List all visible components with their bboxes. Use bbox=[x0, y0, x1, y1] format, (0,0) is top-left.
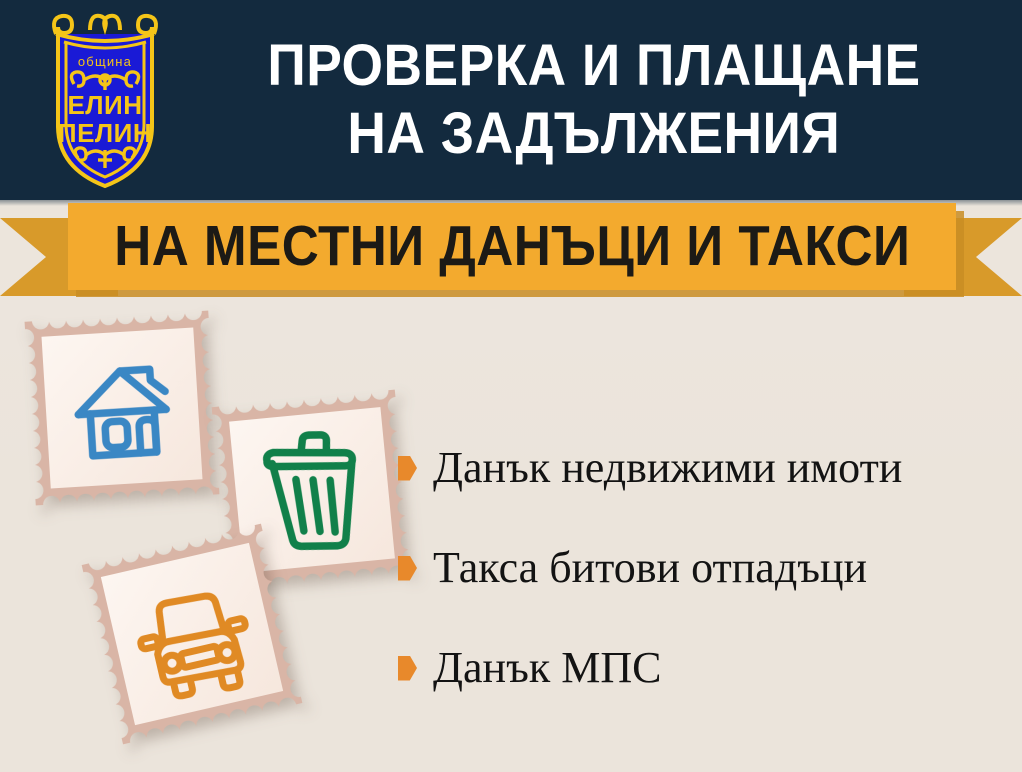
logo-name-line2: ПЕЛИН bbox=[58, 118, 152, 148]
arrow-bullet-icon bbox=[398, 456, 417, 481]
poster-title: ПРОВЕРКА И ПЛАЩАНЕ НА ЗАДЪЛЖЕНИЯ bbox=[180, 14, 1008, 186]
title-line-2: НА ЗАДЪЛЖЕНИЯ bbox=[348, 100, 841, 168]
list-item[interactable]: Данък МПС bbox=[398, 618, 1014, 718]
tax-type-list: Данък недвижими имоти Такса битови отпад… bbox=[398, 418, 1014, 718]
list-item-label: Данък МПС bbox=[433, 643, 661, 693]
house-stamp bbox=[16, 302, 228, 514]
ribbon-body: НА МЕСТНИ ДАНЪЦИ И ТАКСИ bbox=[68, 203, 956, 290]
arrow-bullet-icon bbox=[398, 656, 417, 681]
arrow-bullet-icon bbox=[398, 556, 417, 581]
ribbon-label: НА МЕСТНИ ДАНЪЦИ И ТАКСИ bbox=[114, 218, 910, 275]
list-item-label: Такса битови отпадъци bbox=[433, 543, 867, 593]
list-item-label: Данък недвижими имоти bbox=[433, 443, 902, 493]
logo-name-line1: ЕЛИН bbox=[67, 90, 142, 120]
list-item[interactable]: Данък недвижими имоти bbox=[398, 418, 1014, 518]
list-item[interactable]: Такса битови отпадъци bbox=[398, 518, 1014, 618]
poster-canvas: община ЕЛИН ПЕЛИН ПРОВЕРКА И П bbox=[0, 0, 1022, 772]
logo-kicker: община bbox=[78, 54, 132, 69]
title-line-1: ПРОВЕРКА И ПЛАЩАНЕ bbox=[267, 32, 920, 100]
municipality-logo: община ЕЛИН ПЕЛИН bbox=[38, 8, 172, 192]
stamp-collage bbox=[0, 290, 420, 770]
ribbon-banner: НА МЕСТНИ ДАНЪЦИ И ТАКСИ bbox=[0, 199, 1022, 309]
